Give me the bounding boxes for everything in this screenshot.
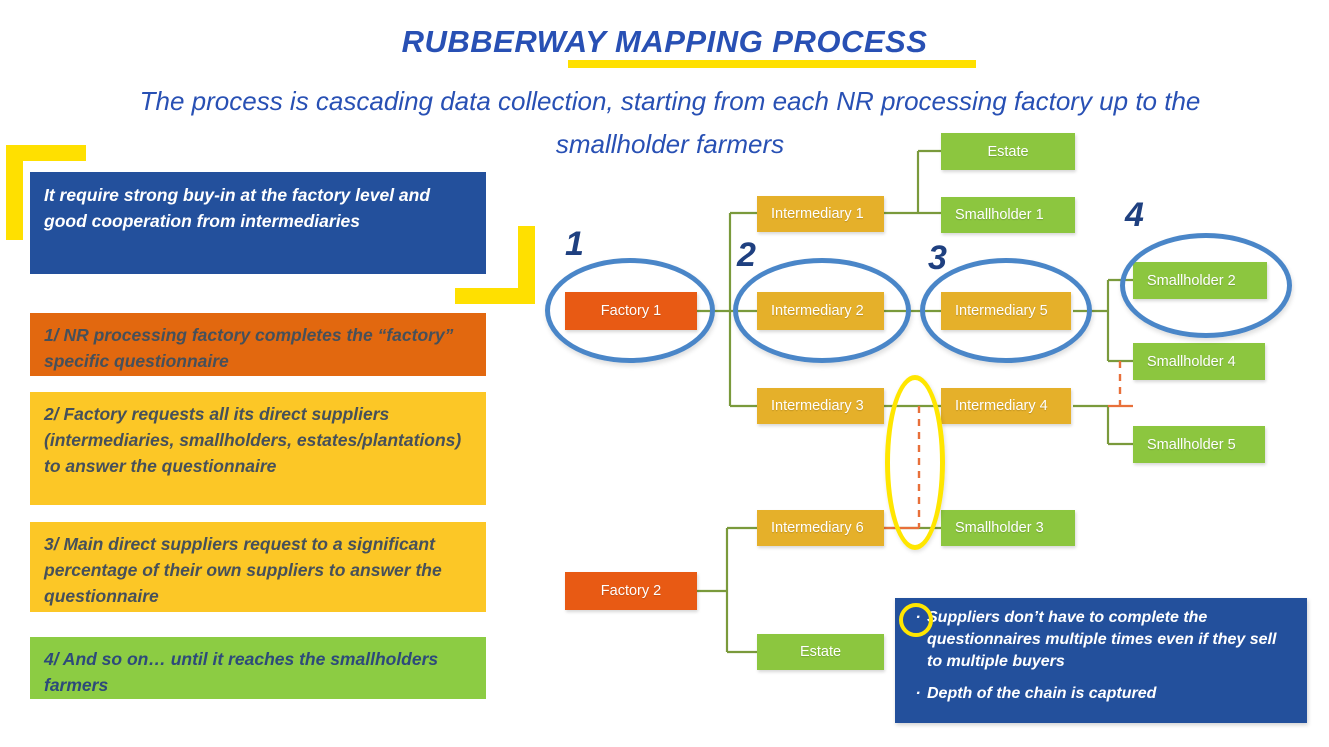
note-text: Depth of the chain is captured <box>927 683 1293 705</box>
node-intermediary-4[interactable]: Intermediary 4 <box>941 388 1071 424</box>
node-intermediary-3[interactable]: Intermediary 3 <box>757 388 884 424</box>
highlight-ellipse-1 <box>545 258 715 363</box>
node-smallholder-5[interactable]: Smallholder 5 <box>1133 426 1265 463</box>
node-estate-bottom[interactable]: Estate <box>757 634 884 670</box>
node-intermediary-1[interactable]: Intermediary 1 <box>757 196 884 232</box>
slide-canvas: RUBBERWAY MAPPING PROCESS The process is… <box>0 0 1329 747</box>
node-smallholder-3[interactable]: Smallholder 3 <box>941 510 1075 546</box>
highlight-ellipse-shared-supplier <box>885 375 945 550</box>
highlight-ring-icon <box>899 603 933 637</box>
step-numeral-2: 2 <box>737 236 756 275</box>
step-numeral-3: 3 <box>928 239 947 278</box>
note-box: · Suppliers don’t have to complete the q… <box>895 598 1307 723</box>
step-numeral-4: 4 <box>1125 196 1144 235</box>
step-numeral-1: 1 <box>565 225 584 264</box>
highlight-ellipse-2 <box>733 258 911 363</box>
node-intermediary-6[interactable]: Intermediary 6 <box>757 510 884 546</box>
note-list-item: · Suppliers don’t have to complete the q… <box>909 607 1293 673</box>
highlight-ellipse-4 <box>1120 233 1292 338</box>
node-smallholder-4[interactable]: Smallholder 4 <box>1133 343 1265 380</box>
node-estate-top[interactable]: Estate <box>941 133 1075 170</box>
bullet-icon: · <box>909 683 927 705</box>
node-smallholder-1[interactable]: Smallholder 1 <box>941 197 1075 233</box>
note-list-item: · Depth of the chain is captured <box>909 683 1293 705</box>
node-factory-2[interactable]: Factory 2 <box>565 572 697 610</box>
note-text: Suppliers don’t have to complete the que… <box>927 607 1293 673</box>
